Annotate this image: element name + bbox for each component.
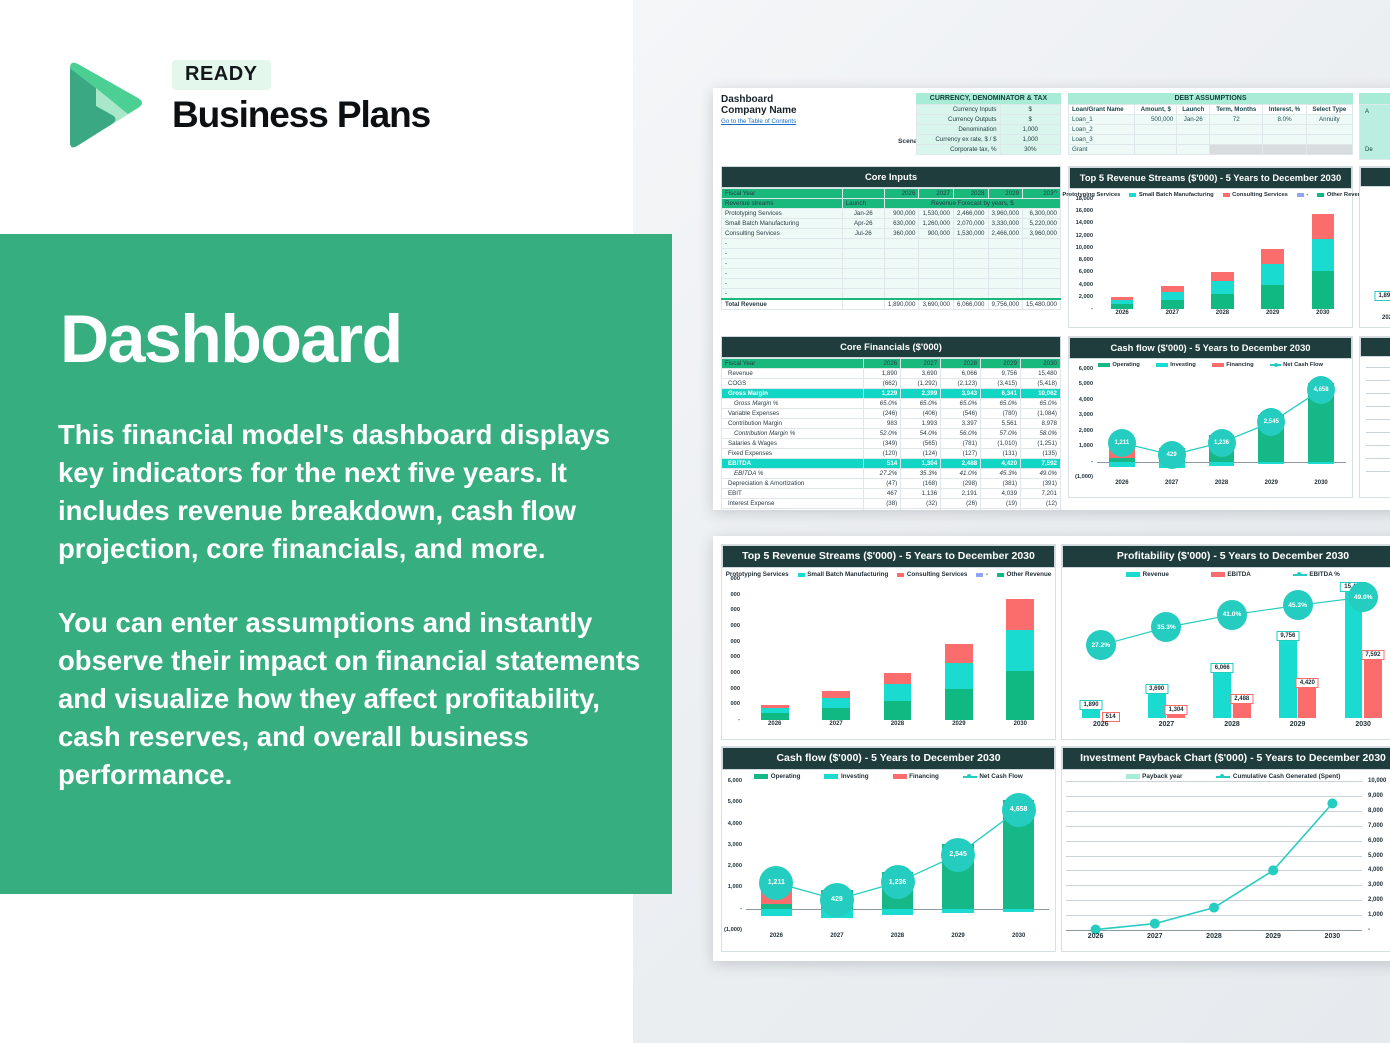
cell-value: 8,978 <box>1021 419 1061 429</box>
x-axis-tick: 2028 <box>891 933 904 946</box>
cell-value[interactable] <box>919 269 954 279</box>
cell[interactable]: Jan-26 <box>1177 115 1210 125</box>
cell-value: 57.0% <box>981 429 1021 439</box>
cell[interactable] <box>1306 125 1352 135</box>
legend-item: Net Cash Flow <box>963 773 1023 780</box>
cell-value[interactable]: 1,000 <box>1000 125 1060 135</box>
sheet-header: Dashboard Company Name Go to the Table o… <box>721 94 797 125</box>
data-label-bubble: 35.3% <box>1151 612 1181 642</box>
cell-value: 4,020 <box>981 509 1021 511</box>
cell-label: Gross Margin % <box>722 399 864 409</box>
cell-value[interactable]: $ <box>1000 115 1060 125</box>
table-row: Gross Margin %65.0%65.0%65.0%65.0%65.0% <box>722 399 1061 409</box>
cell[interactable] <box>1210 125 1263 135</box>
cell-value[interactable] <box>919 259 954 269</box>
chart-cash-flow-bottom[interactable]: Cash flow ($'000) - 5 Years to December … <box>721 746 1056 952</box>
cell-value[interactable]: 2,070,000 <box>953 219 988 229</box>
cell-label: Salaries & Wages <box>722 439 864 449</box>
chart-title: Profitability ($'000) - 5 Years to Decem… <box>1062 545 1390 568</box>
cell[interactable] <box>1177 145 1210 155</box>
bar-segment <box>1312 239 1335 271</box>
legend-item: Consulting Services <box>1223 192 1288 198</box>
cell-label: EBITDA <box>722 459 864 469</box>
cell[interactable]: Loan_2 <box>1069 125 1135 135</box>
cell-value[interactable] <box>1023 259 1061 269</box>
x-axis-tick: 2029 <box>951 933 964 946</box>
y-axis-tick: 000 <box>731 639 741 645</box>
cell-value[interactable] <box>1023 239 1061 249</box>
y-axis-tick: 000 <box>731 592 741 598</box>
cell-value[interactable] <box>919 289 954 300</box>
cell-value[interactable]: 30% <box>1000 145 1060 155</box>
cell-value: 7,189 <box>1021 509 1061 511</box>
cell-name[interactable]: Consulting Services <box>722 229 843 239</box>
cell[interactable] <box>1306 145 1352 155</box>
cell-value: (780) <box>981 409 1021 419</box>
gridline <box>1366 380 1390 381</box>
cell-label: Contribution Margin % <box>722 429 864 439</box>
cell-value: 1,890 <box>864 369 901 379</box>
cell-launch[interactable]: Jan-26 <box>842 209 884 219</box>
chart-title: Top 5 Revenue Streams ($'000) - 5 Years … <box>1069 167 1352 189</box>
brand-logo: READY Business Plans <box>62 58 442 150</box>
gridline <box>1366 432 1390 433</box>
cell[interactable]: 500,000 <box>1135 115 1177 125</box>
table-row: - <box>722 269 1061 279</box>
chart-legend: Operating Investing Financing Net Cash F… <box>1069 359 1352 369</box>
cell-value[interactable] <box>919 239 954 249</box>
table-row: Loan_1500,000Jan-26728.0%Annuity <box>1069 115 1353 125</box>
chart-partial-right-bottom[interactable]: Inve <box>1359 336 1390 498</box>
table-row: EBITDA5141,3042,4884,4207,592 <box>722 459 1061 469</box>
bar-stack[interactable] <box>761 705 789 720</box>
chart-legend: Operating Investing Financing Net Cash F… <box>722 770 1055 781</box>
data-label-bubble: 45.3% <box>1283 590 1313 620</box>
bar-segment <box>1312 214 1335 238</box>
cell-value[interactable]: 1,530,000 <box>919 209 954 219</box>
data-label-bubble: 1,236 <box>881 865 915 899</box>
cell-name[interactable]: - <box>722 249 843 259</box>
cell[interactable] <box>1177 135 1210 145</box>
cell-launch[interactable] <box>842 259 884 269</box>
cell-value[interactable]: 3,960,000 <box>988 209 1023 219</box>
chart-plot-area: 6,0005,0004,0003,0002,0001,000-(1,000)1,… <box>1069 369 1352 493</box>
cell-value: 1,229 <box>864 389 901 399</box>
cell-value[interactable]: 1,530,000 <box>953 229 988 239</box>
cell-label: Depreciation & Amortization <box>722 479 864 489</box>
data-label-bubble: 2,545 <box>1257 408 1285 436</box>
cell-value: 430 <box>864 509 901 511</box>
brand-wordmark: READY Business Plans <box>172 60 430 136</box>
cell[interactable] <box>1135 145 1177 155</box>
x-axis-tick: 2029 <box>952 721 965 734</box>
cell-value[interactable] <box>953 279 988 289</box>
core-financials-table: Fiscal Year20262027202820292030Revenue1,… <box>721 358 1061 510</box>
cell[interactable]: Loan_1 <box>1069 115 1135 125</box>
cell-value[interactable] <box>1023 279 1061 289</box>
cell[interactable] <box>1135 135 1177 145</box>
data-label-bubble: 1,211 <box>1108 429 1136 457</box>
cell-value: (565) <box>901 439 941 449</box>
cell-value: 35.3% <box>901 469 941 479</box>
chart-cash-flow-top[interactable]: Cash flow ($'000) - 5 Years to December … <box>1068 336 1353 498</box>
wc-row-2: De <box>1365 147 1373 153</box>
legend-item: Financing <box>1212 362 1254 368</box>
table-row: Small Batch Manufacturing Apr-26630,0001… <box>722 219 1061 229</box>
cell-value: (662) <box>864 379 901 389</box>
cell-value: (381) <box>981 479 1021 489</box>
bar-stack[interactable] <box>884 672 912 720</box>
chart-legend: Revenue EBITDA EBITDA % <box>1062 568 1390 579</box>
cell-name[interactable]: - <box>722 269 843 279</box>
y-axis-tick: - <box>738 717 740 723</box>
bar-segment <box>822 698 850 708</box>
chart-title: Investment Payback Chart ($'000) - 5 Yea… <box>1062 747 1390 770</box>
cell-value[interactable]: 1,000 <box>1000 135 1060 145</box>
bar-segment <box>1211 281 1234 294</box>
x-axis-tick: 2027 <box>1166 310 1179 323</box>
x-axis-tick: 2026 <box>1382 315 1390 321</box>
x-axis-tick: 2030 <box>1325 933 1341 946</box>
cell-value: 467 <box>864 489 901 499</box>
cell-label: Corporate tax, % <box>917 145 1001 155</box>
y-axis-tick: 8,000 <box>1079 257 1093 263</box>
cell-name[interactable]: - <box>722 289 843 300</box>
y-axis-tick: 10,000 <box>1076 245 1093 251</box>
cell[interactable] <box>1135 125 1177 135</box>
cell[interactable] <box>1177 125 1210 135</box>
core-inputs-table: Fiscal Year 20262027202820292030 Revenue… <box>721 188 1061 310</box>
cell-value: (38) <box>864 499 901 509</box>
column-header <box>842 189 884 199</box>
cell-value[interactable] <box>884 259 919 269</box>
cell[interactable] <box>1263 135 1306 145</box>
cell-label: Interest Expense <box>722 499 864 509</box>
cell-value: 49.0% <box>1021 469 1061 479</box>
cell-value[interactable] <box>988 249 1023 259</box>
cell-value[interactable] <box>988 239 1023 249</box>
cell-value: 65.0% <box>981 399 1021 409</box>
table-row: Revenue1,8903,6906,0669,75615,480 <box>722 369 1061 379</box>
column-header: Revenue streams <box>722 199 843 209</box>
chart-profitability[interactable]: Profitability ($'000) - 5 Years to Decem… <box>1061 544 1390 740</box>
bar-segment <box>761 713 789 720</box>
cell-name[interactable]: - <box>722 239 843 249</box>
debt-table-title: DEBT ASSUMPTIONS <box>1068 93 1353 104</box>
cell-value: (1,084) <box>1021 409 1061 419</box>
sheet-title: Dashboard <box>721 94 797 105</box>
y-axis: 18,00016,00014,00012,00010,0008,0006,000… <box>1069 199 1095 309</box>
cell-value[interactable]: 900,000 <box>919 229 954 239</box>
cell-value: 9,756,000 <box>988 299 1023 310</box>
table-of-contents-link[interactable]: Go to the Table of Contents <box>721 118 797 125</box>
cell-value[interactable]: 3,960,000 <box>1023 229 1061 239</box>
table-row: - <box>722 259 1061 269</box>
cell[interactable] <box>1306 135 1352 145</box>
chart-investment-payback[interactable]: Investment Payback Chart ($'000) - 5 Yea… <box>1061 746 1390 952</box>
cumulative-cash-line <box>1062 781 1390 946</box>
table-row: Interest Expense(38)(32)(26)(19)(12) <box>722 499 1061 509</box>
cell-value[interactable] <box>884 239 919 249</box>
table-row: EBIT4671,1362,1914,0397,201 <box>722 489 1061 499</box>
cell-value[interactable]: 6,300,000 <box>1023 209 1061 219</box>
table-row: Fixed Expenses(120)(124)(127)(131)(135) <box>722 449 1061 459</box>
cell[interactable]: Grant <box>1069 145 1135 155</box>
cell-name[interactable]: Small Batch Manufacturing <box>722 219 843 229</box>
cell-value: 7,201 <box>1021 489 1061 499</box>
data-label-bubble: 49.0% <box>1348 582 1378 612</box>
currency-table-body: Currency Inputs $Currency Outputs $Denom… <box>916 104 1061 155</box>
cell-value[interactable] <box>884 249 919 259</box>
x-axis: 20262027202820292030 <box>1097 310 1348 323</box>
column-header: Revenue Forecast by years, $ <box>884 199 1060 209</box>
table-row: Contribution Margin %52.0%54.0%56.0%57.0… <box>722 429 1061 439</box>
chart-partial-right-top[interactable]: Inve 27.2%1,8902026 <box>1359 166 1390 328</box>
cell-value: (246) <box>864 409 901 419</box>
cell-value: 10,062 <box>1021 389 1061 399</box>
cell-value[interactable]: 5,220,000 <box>1023 219 1061 229</box>
cell[interactable] <box>1263 125 1306 135</box>
brand-name: Business Plans <box>172 94 430 136</box>
cell-launch[interactable] <box>842 269 884 279</box>
core-inputs-block: Core Inputs Fiscal Year 2026202720282029… <box>721 166 1061 310</box>
cell-value: 2,488 <box>941 459 981 469</box>
chart-revenue-streams-bottom[interactable]: Top 5 Revenue Streams ($'000) - 5 Years … <box>721 544 1056 740</box>
data-label-bubble: 1,211 <box>759 866 793 900</box>
cell-value[interactable]: 1,260,000 <box>919 219 954 229</box>
spreadsheet-top-sheet[interactable]: Dashboard Company Name Go to the Table o… <box>713 88 1390 510</box>
bar-stack[interactable] <box>822 691 850 720</box>
cell-value[interactable]: 2,466,000 <box>988 229 1023 239</box>
cell-value: 1,890,000 <box>884 299 919 310</box>
cell-value[interactable] <box>953 259 988 269</box>
table-row: Consulting Services Jul-26360,000900,000… <box>722 229 1061 239</box>
legend-item: Other Revenue <box>997 571 1051 578</box>
panel-paragraph-1: This financial model's dashboard display… <box>58 416 658 568</box>
column-header: 2026 <box>864 359 901 369</box>
x-axis-tick: 2027 <box>1165 480 1178 493</box>
x-axis: 20262027202820292030 <box>746 933 1049 946</box>
bar-segment <box>822 691 850 698</box>
cell-value[interactable] <box>988 289 1023 300</box>
table-row: Gross Margin1,2292,3993,9436,34110,062 <box>722 389 1061 399</box>
cell-value[interactable] <box>1023 289 1061 300</box>
column-header: Fiscal Year <box>722 189 843 199</box>
cell-value: 65.0% <box>864 399 901 409</box>
bar-segment <box>884 673 912 685</box>
cell-value[interactable] <box>884 279 919 289</box>
chart-title: Top 5 Revenue Streams ($'000) - 5 Years … <box>722 545 1055 568</box>
x-axis-tick: 2030 <box>1316 310 1329 323</box>
x-axis-tick: 2027 <box>1159 721 1175 734</box>
table-row: Depreciation & Amortization(47)(168)(298… <box>722 479 1061 489</box>
x-axis-tick: 2028 <box>1224 721 1240 734</box>
chart-title-partial: Inve <box>1360 337 1390 357</box>
cell-value[interactable] <box>884 289 919 300</box>
bar-stack[interactable] <box>1211 272 1234 309</box>
data-label-bubble: 41.0% <box>1217 600 1247 630</box>
cell-value[interactable] <box>1023 249 1061 259</box>
bar-stack[interactable] <box>1006 599 1034 720</box>
cell-value[interactable] <box>953 249 988 259</box>
column-header: Launch <box>842 199 884 209</box>
cell-value[interactable] <box>919 249 954 259</box>
cell-value[interactable] <box>919 279 954 289</box>
cell-launch[interactable] <box>842 279 884 289</box>
cell-value: 1,136 <box>901 489 941 499</box>
cell-value: 65.0% <box>901 399 941 409</box>
legend-item: Operating <box>754 773 800 780</box>
x-axis-tick: 2029 <box>1265 933 1281 946</box>
bar-segment <box>1161 300 1184 309</box>
panel-paragraph-2: You can enter assumptions and instantly … <box>58 604 658 794</box>
column-header: Amount, $ <box>1135 105 1177 115</box>
cell-launch[interactable]: Jul-26 <box>842 229 884 239</box>
cell-value: 65.0% <box>941 399 981 409</box>
cell-value[interactable] <box>988 259 1023 269</box>
core-inputs-title: Core Inputs <box>721 166 1061 188</box>
y-axis-tick: - <box>1091 306 1093 312</box>
cell-value: 1,304 <box>901 459 941 469</box>
cell-value[interactable] <box>953 289 988 300</box>
cell-value[interactable]: 2,466,000 <box>953 209 988 219</box>
legend-item: EBITDA <box>1211 571 1251 578</box>
table-row: - <box>722 249 1061 259</box>
bar-stack[interactable] <box>1161 286 1184 309</box>
x-axis-tick: 2027 <box>829 721 842 734</box>
y-axis-tick: 14,000 <box>1076 220 1093 226</box>
column-header: Interest, % <box>1263 105 1306 115</box>
cell-value: 6,066 <box>941 369 981 379</box>
cell-value[interactable] <box>988 269 1023 279</box>
cell[interactable]: 72 <box>1210 115 1263 125</box>
bar-segment <box>1211 272 1234 281</box>
cell-value: 3,943 <box>941 389 981 399</box>
chart-plot-area: 18,00016,00014,00012,00010,0008,0006,000… <box>1069 199 1352 323</box>
data-label-bubble: 2,545 <box>941 838 975 872</box>
cell-value: 514 <box>864 459 901 469</box>
cell-value: 27.2% <box>864 469 901 479</box>
x-axis-tick: 2029 <box>1266 310 1279 323</box>
chart-legend: Prototyping Services Small Batch Manufac… <box>722 568 1055 579</box>
cell-value[interactable]: 360,000 <box>884 229 919 239</box>
legend-item: Consulting Services <box>897 571 967 578</box>
x-axis-tick: 2026 <box>1088 933 1104 946</box>
cell-value[interactable] <box>988 279 1023 289</box>
data-label-bubble: 4,658 <box>1002 793 1036 827</box>
cell-label: Contribution Margin <box>722 419 864 429</box>
y-axis-tick: 18,000 <box>1076 196 1093 202</box>
table-row: Net Profit Before Tax4301,1042,1654,0207… <box>722 509 1061 511</box>
company-name: Company Name <box>721 105 797 116</box>
column-header: 2028 <box>953 189 988 199</box>
y-axis-tick: 12,000 <box>1076 233 1093 239</box>
cell-value: (19) <box>981 499 1021 509</box>
legend-item: - <box>976 571 988 578</box>
cell[interactable] <box>1210 135 1263 145</box>
bar-stack[interactable] <box>1111 297 1134 309</box>
cell-launch[interactable]: Apr-26 <box>842 219 884 229</box>
cell-value[interactable] <box>953 239 988 249</box>
cell[interactable]: Loan_3 <box>1069 135 1135 145</box>
ready-badge: READY <box>172 60 271 90</box>
bar-stack[interactable] <box>1312 214 1335 309</box>
gridline <box>1366 367 1390 368</box>
cell-value: (135) <box>1021 449 1061 459</box>
table-row: Contribution Margin9831,9933,3975,5618,9… <box>722 419 1061 429</box>
y-axis-tick: 000 <box>731 623 741 629</box>
cell[interactable] <box>1263 145 1306 155</box>
debt-assumptions-table: DEBT ASSUMPTIONS Loan/Grant NameAmount, … <box>1068 93 1353 155</box>
chart-legend: Prototyping Services Small Batch Manufac… <box>1069 189 1352 199</box>
cell[interactable]: Annuity <box>1306 115 1352 125</box>
cell-launch[interactable] <box>842 249 884 259</box>
x-axis-tick: 2028 <box>1215 480 1228 493</box>
core-financials-block: Core Financials ($'000) Fiscal Year20262… <box>721 336 1061 510</box>
cell-name[interactable]: - <box>722 259 843 269</box>
cell-launch[interactable] <box>842 239 884 249</box>
cell-value[interactable]: $ <box>1000 105 1060 115</box>
cell-value: (12) <box>1021 499 1061 509</box>
column-header: Term, Months <box>1210 105 1263 115</box>
gridline <box>1366 445 1390 446</box>
bar-segment <box>1312 271 1335 309</box>
cell-value[interactable]: 900,000 <box>884 209 919 219</box>
chart-revenue-streams-top[interactable]: Top 5 Revenue Streams ($'000) - 5 Years … <box>1068 166 1353 328</box>
x-axis-tick: 2027 <box>1147 933 1163 946</box>
table-subheader-row: Revenue streams Launch Revenue Forecast … <box>722 199 1061 209</box>
y-axis: 000000000000000000000000000- <box>722 579 742 720</box>
cell-value: (127) <box>941 449 981 459</box>
bar-segment <box>1006 630 1034 671</box>
column-header: Launch <box>1177 105 1210 115</box>
cell-value[interactable]: 630,000 <box>884 219 919 229</box>
cell-value[interactable]: 3,330,000 <box>988 219 1023 229</box>
column-header: 2029 <box>988 189 1023 199</box>
chart-plot-area: 27.2%1,8902026 <box>1360 187 1390 323</box>
x-axis: 20262027202820292030 <box>744 721 1051 734</box>
column-header: Loan/Grant Name <box>1069 105 1135 115</box>
table-row: - <box>722 279 1061 289</box>
cell-value[interactable] <box>953 269 988 279</box>
cell-name[interactable]: Prototyping Services <box>722 209 843 219</box>
legend-item: - <box>1297 192 1308 198</box>
cell-value[interactable] <box>884 269 919 279</box>
cell-value: 3,690,000 <box>919 299 954 310</box>
cell-label: Currency Outputs <box>917 115 1001 125</box>
data-label-bubble: 1,236 <box>1208 429 1236 457</box>
cell-value: (32) <box>901 499 941 509</box>
table-row: Corporate tax, % 30% <box>917 145 1061 155</box>
x-axis-tick: 2028 <box>891 721 904 734</box>
cell-label: Net Profit Before Tax <box>722 509 864 511</box>
cell-value: (391) <box>1021 479 1061 489</box>
currency-denominator-tax-table: CURRENCY, DENOMINATOR & TAX Currency Inp… <box>916 93 1061 155</box>
cell-name[interactable]: - <box>722 279 843 289</box>
cell-value[interactable] <box>1023 269 1061 279</box>
cell-value: (781) <box>941 439 981 449</box>
spreadsheet-bottom-sheet[interactable]: Top 5 Revenue Streams ($'000) - 5 Years … <box>713 536 1390 961</box>
bar-segment <box>1261 249 1284 264</box>
legend-item: Investing <box>1156 362 1196 368</box>
table-row: Loan_2 <box>1069 125 1353 135</box>
bar-stack[interactable] <box>945 644 973 720</box>
cell[interactable] <box>1210 145 1263 155</box>
cell-label: EBIT <box>722 489 864 499</box>
bar-stack[interactable] <box>1261 249 1284 309</box>
cell[interactable]: 8.0% <box>1263 115 1306 125</box>
cell-launch[interactable] <box>842 289 884 300</box>
